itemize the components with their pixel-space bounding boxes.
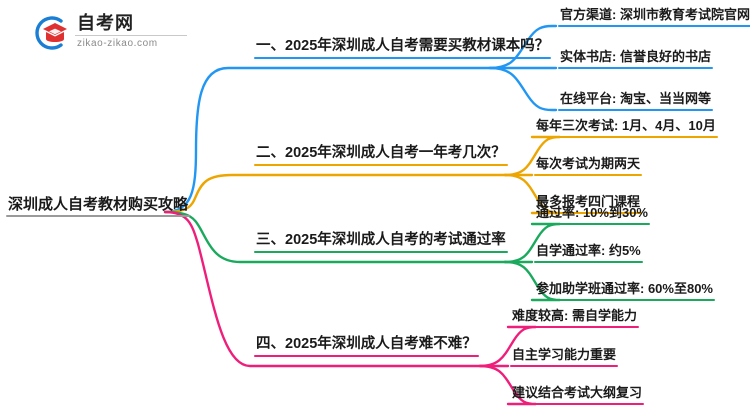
branch-node-3[interactable]: 三、2025年深圳成人自考的考试通过率 xyxy=(254,232,508,253)
leaf-node-2-2-label: 每次考试为期两天 xyxy=(534,157,642,174)
leaf-node-4-1-underline xyxy=(510,326,639,328)
site-logo: 自考网 zikao-zikao.com xyxy=(30,12,190,54)
leaf-node-2-2-underline xyxy=(534,174,642,176)
branch-node-1-underline xyxy=(254,57,551,59)
branch-node-4[interactable]: 四、2025年深圳成人自考难不难？ xyxy=(254,336,479,357)
leaf-node-3-2-label: 自学通过率: 约5% xyxy=(534,244,643,261)
branch-node-3-label: 三、2025年深圳成人自考的考试通过率 xyxy=(254,232,508,251)
leaf-node-2-2[interactable]: 每次考试为期两天 xyxy=(534,157,642,176)
leaf-node-1-1-underline xyxy=(558,25,750,27)
leaf-node-4-2[interactable]: 自主学习能力重要 xyxy=(510,348,618,367)
wire-branch-2 xyxy=(165,175,505,212)
leaf-node-3-3-underline xyxy=(534,299,715,301)
leaf-node-3-1-underline xyxy=(534,223,650,225)
branch-node-2-underline xyxy=(254,164,508,166)
leaf-node-1-1-label: 官方渠道: 深圳市教育考试院官网 xyxy=(558,8,750,25)
leaf-node-1-3[interactable]: 在线平台: 淘宝、当当网等 xyxy=(558,92,713,111)
root-node-underline xyxy=(6,215,190,217)
leaf-node-3-3-label: 参加助学班通过率: 60%至80% xyxy=(534,282,715,299)
branch-node-4-underline xyxy=(254,355,479,357)
branch-node-4-label: 四、2025年深圳成人自考难不难？ xyxy=(254,336,479,355)
branch-node-1-label: 一、2025年深圳成人自考需要买教材课本吗？ xyxy=(254,38,551,57)
leaf-node-1-2-label: 实体书店: 信誉良好的书店 xyxy=(558,50,713,67)
leaf-node-3-2[interactable]: 自学通过率: 约5% xyxy=(534,244,643,263)
leaf-node-3-1-label: 通过率: 10%到30% xyxy=(534,206,650,223)
leaf-node-4-3[interactable]: 建议结合考试大纲复习 xyxy=(510,386,644,405)
leaf-node-4-3-label: 建议结合考试大纲复习 xyxy=(510,386,644,403)
logo-name-cn: 自考网 xyxy=(75,12,187,34)
branch-node-1[interactable]: 一、2025年深圳成人自考需要买教材课本吗？ xyxy=(254,38,551,59)
leaf-node-2-1[interactable]: 每年三次考试: 1月、4月、10月 xyxy=(534,119,718,138)
leaf-node-2-1-underline xyxy=(534,136,718,138)
branch-node-2[interactable]: 二、2025年深圳成人自考一年考几次？ xyxy=(254,145,508,166)
wire-branch-1 xyxy=(165,68,490,212)
leaf-node-4-3-underline xyxy=(510,403,644,405)
branch-node-3-underline xyxy=(254,251,508,253)
leaf-node-1-3-label: 在线平台: 淘宝、当当网等 xyxy=(558,92,713,109)
leaf-node-1-2[interactable]: 实体书店: 信誉良好的书店 xyxy=(558,50,713,69)
logo-name-en: zikao-zikao.com xyxy=(75,38,187,50)
root-node-label: 深圳成人自考教材购买攻略 xyxy=(6,196,190,215)
leaf-node-1-2-underline xyxy=(558,67,713,69)
leaf-node-1-3-underline xyxy=(558,109,713,111)
leaf-node-4-1-label: 难度较高: 需自学能力 xyxy=(510,309,639,326)
mindmap-canvas: 自考网 zikao-zikao.com 深圳成人自考教材购买攻略 一、2 xyxy=(0,0,750,410)
branch-node-2-label: 二、2025年深圳成人自考一年考几次？ xyxy=(254,145,508,164)
wire-leaf-1-3 xyxy=(490,68,556,110)
leaf-node-2-1-label: 每年三次考试: 1月、4月、10月 xyxy=(534,119,718,136)
leaf-node-3-3[interactable]: 参加助学班通过率: 60%至80% xyxy=(534,282,715,301)
leaf-node-3-1[interactable]: 通过率: 10%到30% xyxy=(534,206,650,225)
leaf-node-4-1[interactable]: 难度较高: 需自学能力 xyxy=(510,309,639,328)
logo-wordmark: 自考网 zikao-zikao.com xyxy=(75,12,187,50)
leaf-node-4-2-label: 自主学习能力重要 xyxy=(510,348,618,365)
leaf-node-1-1[interactable]: 官方渠道: 深圳市教育考试院官网 xyxy=(558,8,750,27)
leaf-node-4-2-underline xyxy=(510,365,618,367)
graduation-cap-icon xyxy=(30,14,70,52)
logo-divider xyxy=(75,35,187,36)
leaf-node-3-2-underline xyxy=(534,261,643,263)
root-node[interactable]: 深圳成人自考教材购买攻略 xyxy=(6,196,190,217)
